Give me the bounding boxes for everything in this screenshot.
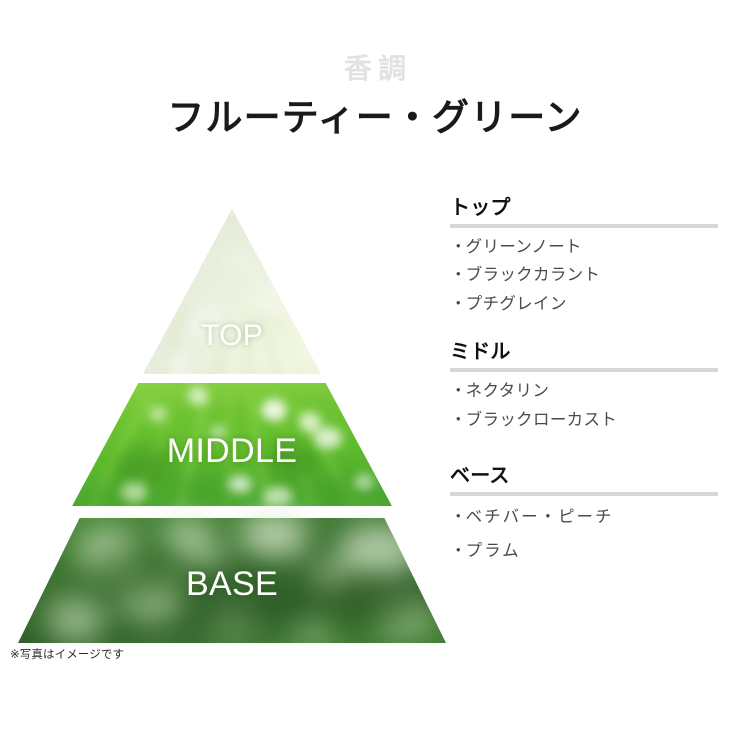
note-heading-base: ベース xyxy=(450,464,718,489)
note-item-label: グリーンノート xyxy=(466,238,582,256)
bullet-icon: ・ xyxy=(450,261,466,289)
fragrance-pyramid: TOP xyxy=(12,200,457,655)
pyramid-tier-base: BASE xyxy=(12,511,457,650)
footnote: ※写真はイメージです xyxy=(10,648,124,663)
tier-label-middle: MIDDLE xyxy=(167,432,298,470)
list-item: ・ブラックカラント xyxy=(450,261,718,289)
page-header: 香調 フルーティー・グリーン xyxy=(0,0,750,141)
note-items-base: ・ベチバー・ピーチ ・プラム xyxy=(450,501,718,569)
list-item: ・プチグレイン xyxy=(450,290,718,318)
note-heading-middle: ミドル xyxy=(450,340,718,365)
bullet-icon: ・ xyxy=(450,377,466,405)
note-item-label: ブラックローカスト xyxy=(466,411,617,429)
fragrance-notes-list: トップ ・グリーンノート ・ブラックカラント ・プチグレイン ミドル ・ネクタリ… xyxy=(450,196,718,569)
bullet-icon: ・ xyxy=(450,406,466,434)
bullet-icon: ・ xyxy=(450,501,466,535)
list-item: ・ベチバー・ピーチ xyxy=(450,501,718,535)
note-item-label: プチグレイン xyxy=(466,295,567,313)
note-section-base: ベース ・ベチバー・ピーチ ・プラム xyxy=(450,464,718,569)
page-title: フルーティー・グリーン xyxy=(0,86,750,141)
pyramid-svg: TOP xyxy=(12,200,457,655)
note-divider-middle xyxy=(450,368,718,372)
note-item-label: ネクタリン xyxy=(466,382,550,400)
bullet-icon: ・ xyxy=(450,535,466,569)
bullet-icon: ・ xyxy=(450,233,466,261)
note-divider-base xyxy=(450,492,718,496)
note-item-label: ベチバー・ピーチ xyxy=(466,508,614,526)
note-divider-top xyxy=(450,224,718,228)
note-items-middle: ・ネクタリン ・ブラックローカスト xyxy=(450,377,718,434)
tier-label-top: TOP xyxy=(201,319,263,352)
note-items-top: ・グリーンノート ・ブラックカラント ・プチグレイン xyxy=(450,233,718,318)
bullet-icon: ・ xyxy=(450,290,466,318)
list-item: ・グリーンノート xyxy=(450,233,718,261)
note-item-label: プラム xyxy=(466,542,521,560)
tier-label-base: BASE xyxy=(186,565,278,603)
eyebrow-label: 香調 xyxy=(0,0,750,86)
list-item: ・ネクタリン xyxy=(450,377,718,405)
note-section-middle: ミドル ・ネクタリン ・ブラックローカスト xyxy=(450,340,718,434)
pyramid-tier-middle: MIDDLE xyxy=(12,383,457,514)
list-item: ・ブラックローカスト xyxy=(450,406,718,434)
note-item-label: ブラックカラント xyxy=(466,266,601,284)
list-item: ・プラム xyxy=(450,535,718,569)
note-section-top: トップ ・グリーンノート ・ブラックカラント ・プチグレイン xyxy=(450,196,718,318)
note-heading-top: トップ xyxy=(450,196,718,221)
